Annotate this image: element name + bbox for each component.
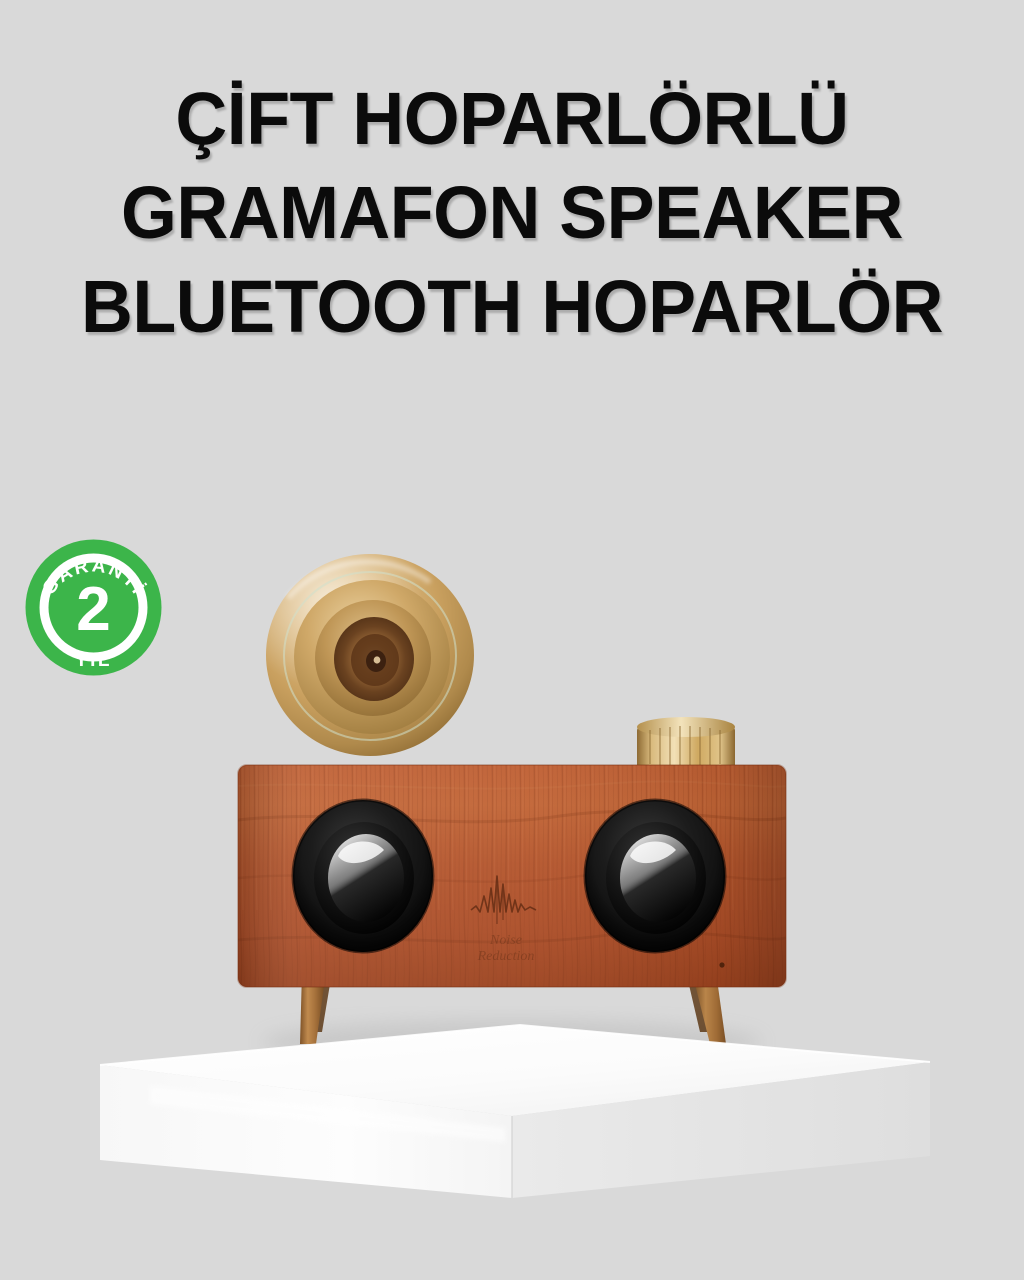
engraving-label-line1: Noise — [489, 933, 522, 948]
horn — [266, 554, 474, 756]
title-line-3: BLUETOOTH HOPARLÖR — [15, 260, 1008, 354]
product-illustration: Noise Reduction — [0, 520, 1024, 1260]
mic-pinhole — [719, 962, 724, 967]
left-driver — [293, 800, 433, 952]
product-listing-image: ÇİFT HOPARLÖRLÜ GRAMAFON SPEAKER BLUETOO… — [0, 0, 1024, 1280]
pedestal — [100, 1025, 930, 1198]
product-image: Noise Reduction — [0, 520, 1024, 1260]
title-line-2: GRAMAFON SPEAKER — [15, 166, 1008, 260]
title-line-1: ÇİFT HOPARLÖRLÜ — [15, 72, 1008, 166]
right-driver — [585, 800, 725, 952]
horn-bore-glint — [374, 656, 381, 663]
page-title: ÇİFT HOPARLÖRLÜ GRAMAFON SPEAKER BLUETOO… — [0, 72, 1024, 354]
engraving-label-line2: Reduction — [477, 949, 535, 964]
